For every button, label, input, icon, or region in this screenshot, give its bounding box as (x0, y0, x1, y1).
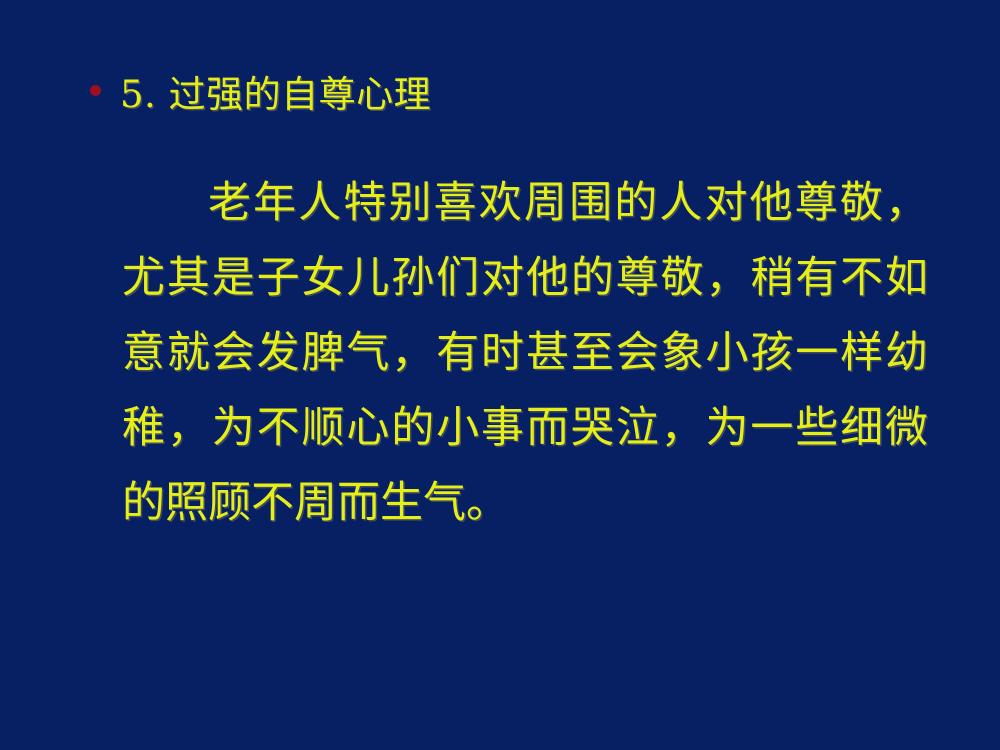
presentation-slide: 5. 过强的自尊心理 老年人特别喜欢周围的人对他尊敬，尤其是子女儿孙们对他的尊敬… (0, 0, 1000, 750)
page-title: 5. 过强的自尊心理 (120, 72, 920, 118)
round-bullet-icon (90, 85, 101, 96)
slide-body-text: 老年人特别喜欢周围的人对他尊敬，尤其是子女儿孙们对他的尊敬，稍有不如意就会发脾气… (122, 166, 928, 541)
